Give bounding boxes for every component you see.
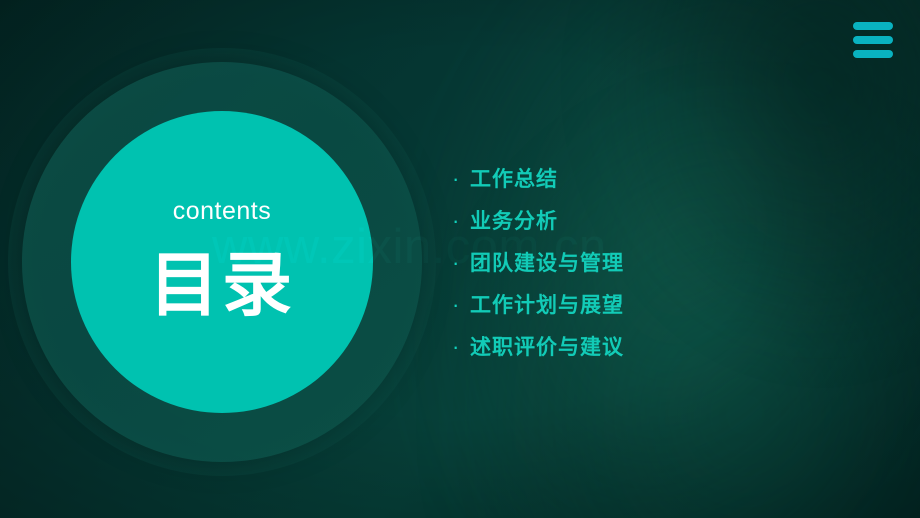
hamburger-bar-middle — [853, 36, 893, 44]
toc-item-label: 述职评价与建议 — [470, 331, 624, 361]
toc-item-label: 工作计划与展望 — [470, 289, 624, 319]
hamburger-menu-icon[interactable] — [853, 22, 893, 58]
list-item[interactable]: · 工作计划与展望 — [452, 289, 872, 331]
list-item[interactable]: · 述职评价与建议 — [452, 331, 872, 373]
toc-item-label: 工作总结 — [470, 163, 558, 193]
list-item[interactable]: · 工作总结 — [452, 163, 872, 205]
bullet-icon: · — [452, 336, 470, 358]
hamburger-bar-top — [853, 22, 893, 30]
bullet-icon: · — [452, 252, 470, 274]
contents-circle: contents 目录 — [71, 111, 373, 413]
slide-canvas: contents 目录 www.zixin.com.cn · 工作总结 · 业务… — [0, 0, 920, 518]
contents-eyebrow-label: contents — [173, 199, 272, 224]
bullet-icon: · — [452, 210, 470, 232]
table-of-contents-list: · 工作总结 · 业务分析 · 团队建设与管理 · 工作计划与展望 · 述职评价… — [452, 163, 872, 373]
list-item[interactable]: · 团队建设与管理 — [452, 247, 872, 289]
bullet-icon: · — [452, 294, 470, 316]
bullet-icon: · — [452, 168, 470, 190]
list-item[interactable]: · 业务分析 — [452, 205, 872, 247]
toc-item-label: 团队建设与管理 — [470, 247, 624, 277]
toc-item-label: 业务分析 — [470, 205, 558, 235]
page-title: 目录 — [149, 250, 295, 320]
hamburger-bar-bottom — [853, 50, 893, 58]
